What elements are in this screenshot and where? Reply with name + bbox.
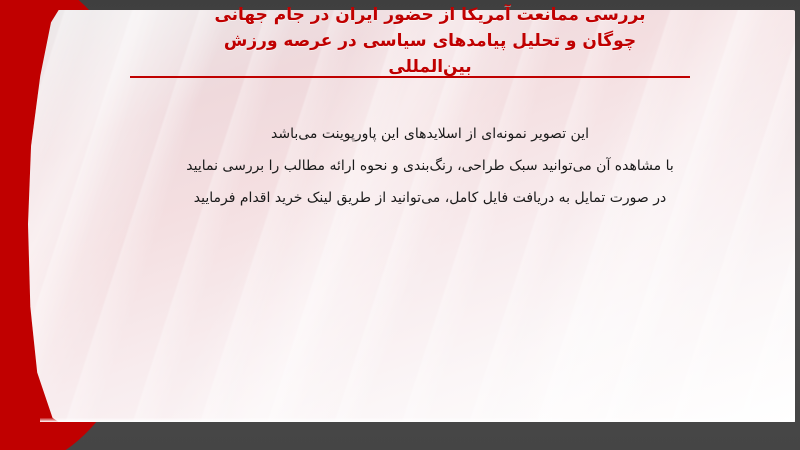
slide-body-line-3: در صورت تمایل به دریافت فایل کامل، می‌تو… [130,182,730,214]
slide-title-line-2: چوگان و تحلیل پیامدهای سیاسی در عرصه ورز… [120,28,740,54]
slide-body-line-2: با مشاهده آن می‌توانید سبک طراحی، رنگ‌بن… [130,150,730,182]
slide-title: بررسی ممانعت آمریکا از حضور ایران در جام… [120,2,740,80]
slide-body-line-1: این تصویر نمونه‌ای از اسلایدهای این پاور… [130,118,730,150]
slide-content: بررسی ممانعت آمریکا از حضور ایران در جام… [0,0,800,450]
presentation-slide: بررسی ممانعت آمریکا از حضور ایران در جام… [0,0,800,450]
title-divider-rule [130,76,690,78]
slide-body-text: این تصویر نمونه‌ای از اسلایدهای این پاور… [130,118,730,214]
slide-title-line-1: بررسی ممانعت آمریکا از حضور ایران در جام… [120,2,740,28]
